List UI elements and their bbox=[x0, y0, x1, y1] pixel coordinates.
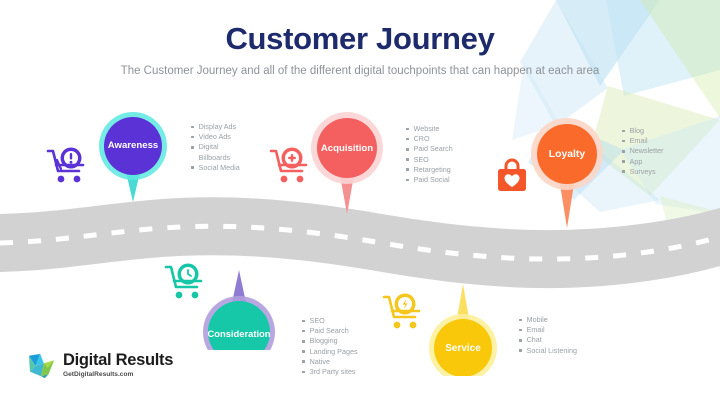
shopping-cart-clock-icon[interactable] bbox=[163, 262, 207, 302]
list-item: SEO bbox=[406, 155, 453, 165]
bullet-icon bbox=[302, 350, 305, 353]
touchpoint-label: Social Media bbox=[199, 163, 240, 173]
bullet-icon bbox=[519, 319, 522, 322]
list-item: Email bbox=[622, 136, 664, 146]
pin-awareness-label: Awareness bbox=[108, 140, 159, 151]
shopping-cart-bolt-icon[interactable] bbox=[381, 292, 425, 332]
list-item: Blogging bbox=[302, 336, 358, 346]
touchpoint-label: Email bbox=[527, 325, 545, 335]
pin-acquisition[interactable]: Acquisition bbox=[312, 112, 382, 184]
pin-loyalty[interactable]: Loyalty bbox=[532, 118, 602, 190]
bullet-icon bbox=[191, 146, 194, 149]
touchpoint-label: Retargeting bbox=[414, 165, 451, 175]
bullet-icon bbox=[622, 160, 625, 163]
pin-loyalty-circle[interactable]: Loyalty bbox=[532, 118, 602, 190]
touchpoint-label: Social Listening bbox=[527, 346, 577, 356]
list-item: Social Listening bbox=[519, 346, 577, 356]
pin-loyalty-label: Loyalty bbox=[549, 149, 585, 160]
bullet-icon bbox=[406, 148, 409, 151]
touchpoint-label: Paid Social bbox=[414, 175, 450, 185]
list-item: Social Media bbox=[191, 163, 240, 173]
page-subtitle: The Customer Journey and all of the diff… bbox=[0, 65, 720, 77]
touchpoints-service: Mobile Email Chat Social Listening bbox=[519, 315, 577, 356]
bullet-icon bbox=[191, 166, 194, 169]
pin-awareness[interactable]: Awareness bbox=[100, 112, 166, 178]
bullet-icon bbox=[302, 360, 305, 363]
touchpoint-label: CRO bbox=[414, 134, 430, 144]
shopping-bag-heart-icon[interactable] bbox=[494, 158, 530, 194]
pin-acquisition-circle[interactable]: Acquisition bbox=[312, 112, 382, 184]
pin-service-label: Service bbox=[445, 343, 481, 354]
list-item: Newsletter bbox=[622, 146, 664, 156]
pin-consideration[interactable]: Consideration bbox=[202, 298, 276, 368]
touchpoint-label: Landing Pages bbox=[310, 347, 358, 357]
touchpoint-label: Blog bbox=[630, 126, 644, 136]
pin-service[interactable]: Service bbox=[428, 316, 498, 380]
bullet-icon bbox=[302, 330, 305, 333]
list-item: Blog bbox=[622, 126, 664, 136]
touchpoint-label: Billboards bbox=[199, 153, 231, 163]
list-item: Video Ads bbox=[191, 132, 240, 142]
list-item: Digital bbox=[191, 142, 240, 152]
bullet-icon bbox=[519, 349, 522, 352]
pin-consideration-label: Consideration bbox=[207, 328, 270, 339]
bullet-icon bbox=[622, 140, 625, 143]
touchpoints-consideration: SEO Paid Search Blogging Landing Pages N… bbox=[302, 316, 358, 377]
logo-url: GetDigitalResults.com bbox=[63, 370, 173, 379]
list-item: Email bbox=[519, 325, 577, 335]
list-item: Chat bbox=[519, 335, 577, 345]
list-item: Surveys bbox=[622, 167, 664, 177]
list-item: Mobile bbox=[519, 315, 577, 325]
list-item: App bbox=[622, 157, 664, 167]
bullet-icon bbox=[191, 126, 194, 129]
brand-logo[interactable]: Digital Results GetDigitalResults.com bbox=[28, 352, 173, 379]
list-item: Landing Pages bbox=[302, 347, 358, 357]
touchpoint-label: 3rd Party sites bbox=[310, 367, 356, 377]
list-item: Native bbox=[302, 357, 358, 367]
list-item: Website bbox=[406, 124, 453, 134]
digital-results-logo-mark bbox=[28, 353, 56, 379]
bullet-icon bbox=[406, 168, 409, 171]
bullet-icon bbox=[191, 136, 194, 139]
list-item: Paid Search bbox=[406, 144, 453, 154]
touchpoint-label: Newsletter bbox=[630, 146, 664, 156]
pin-awareness-circle[interactable]: Awareness bbox=[100, 112, 166, 178]
touchpoint-label: Website bbox=[414, 124, 440, 134]
touchpoints-loyalty: Blog Email Newsletter App Surveys bbox=[622, 126, 664, 177]
pin-acquisition-label: Acquisition bbox=[321, 143, 373, 154]
list-item: Display Ads bbox=[191, 122, 240, 132]
pin-service-circle[interactable]: Service bbox=[428, 316, 498, 380]
touchpoint-label: SEO bbox=[310, 316, 325, 326]
list-item: Paid Search bbox=[302, 326, 358, 336]
touchpoint-label: Digital bbox=[199, 142, 219, 152]
bullet-icon bbox=[302, 320, 305, 323]
bullet-icon bbox=[622, 130, 625, 133]
touchpoint-label: Mobile bbox=[527, 315, 548, 325]
bullet-icon bbox=[622, 170, 625, 173]
touchpoint-label: Surveys bbox=[630, 167, 656, 177]
touchpoint-label: Email bbox=[630, 136, 648, 146]
list-item: Billboards bbox=[191, 153, 240, 163]
bullet-icon bbox=[406, 138, 409, 141]
list-item: Retargeting bbox=[406, 165, 453, 175]
header: Customer Journey The Customer Journey an… bbox=[0, 22, 720, 77]
logo-name: Digital Results bbox=[63, 352, 173, 369]
bullet-icon bbox=[406, 128, 409, 131]
bullet-icon bbox=[519, 329, 522, 332]
touchpoint-label: Blogging bbox=[310, 336, 338, 346]
touchpoint-label: App bbox=[630, 157, 643, 167]
shopping-cart-plus-icon[interactable] bbox=[268, 146, 312, 186]
bullet-icon bbox=[406, 179, 409, 182]
list-item: CRO bbox=[406, 134, 453, 144]
touchpoint-label: Display Ads bbox=[199, 122, 237, 132]
list-item: Paid Social bbox=[406, 175, 453, 185]
bullet-icon bbox=[519, 339, 522, 342]
logo-text-block: Digital Results GetDigitalResults.com bbox=[63, 352, 173, 379]
touchpoint-label: Chat bbox=[527, 335, 542, 345]
bullet-icon bbox=[406, 158, 409, 161]
page-title: Customer Journey bbox=[0, 22, 720, 56]
touchpoints-acquisition: Website CRO Paid Search SEO Retargeting … bbox=[406, 124, 453, 185]
shopping-cart-alert-icon[interactable] bbox=[45, 146, 89, 186]
list-item: 3rd Party sites bbox=[302, 367, 358, 377]
pin-consideration-circle[interactable]: Consideration bbox=[202, 298, 276, 368]
bullet-icon bbox=[622, 150, 625, 153]
touchpoint-label: Native bbox=[310, 357, 330, 367]
bullet-icon bbox=[302, 340, 305, 343]
touchpoint-label: SEO bbox=[414, 155, 429, 165]
bullet-icon bbox=[302, 371, 305, 374]
list-item: SEO bbox=[302, 316, 358, 326]
infographic-canvas: Customer Journey The Customer Journey an… bbox=[0, 0, 720, 404]
touchpoint-label: Paid Search bbox=[310, 326, 349, 336]
touchpoint-label: Paid Search bbox=[414, 144, 453, 154]
touchpoint-label: Video Ads bbox=[199, 132, 231, 142]
touchpoints-awareness: Display Ads Video Ads Digital Billboards… bbox=[191, 122, 240, 173]
